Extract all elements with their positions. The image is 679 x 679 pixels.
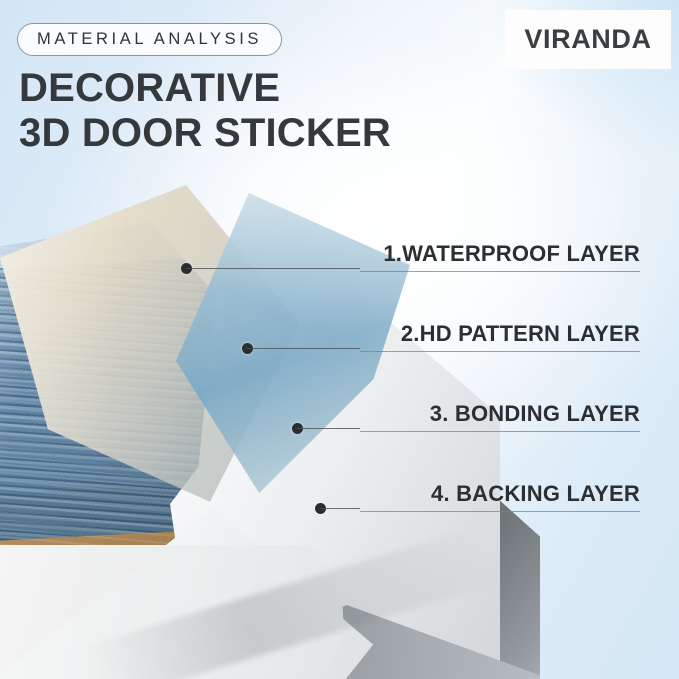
callout-underline-rule <box>360 351 640 352</box>
callout-leader-line <box>297 428 360 429</box>
brand-logo-box: VIRANDA <box>505 10 671 69</box>
callout-label: 1.WATERPROOF LAYER <box>383 241 640 267</box>
page-title-line-1: DECORATIVE <box>19 66 391 111</box>
page-title: DECORATIVE 3D DOOR STICKER <box>19 66 391 156</box>
eyebrow-badge-label: MATERIAL ANALYSIS <box>37 30 262 49</box>
poster-canvas: 1.WATERPROOF LAYER2.HD PATTERN LAYER3. B… <box>0 0 679 679</box>
callout-underline-rule <box>360 431 640 432</box>
callout-underline-rule <box>360 271 640 272</box>
page-title-line-2: 3D DOOR STICKER <box>19 111 391 156</box>
eyebrow-badge: MATERIAL ANALYSIS <box>17 23 282 56</box>
callout-leader-line <box>320 508 360 509</box>
callout-label: 4. BACKING LAYER <box>431 481 640 507</box>
callout-label: 2.HD PATTERN LAYER <box>401 321 640 347</box>
brand-name: VIRANDA <box>524 24 651 55</box>
callout-leader-line <box>247 348 360 349</box>
callout-underline-rule <box>360 511 640 512</box>
callout-leader-line <box>186 268 360 269</box>
callout-label: 3. BONDING LAYER <box>430 401 640 427</box>
